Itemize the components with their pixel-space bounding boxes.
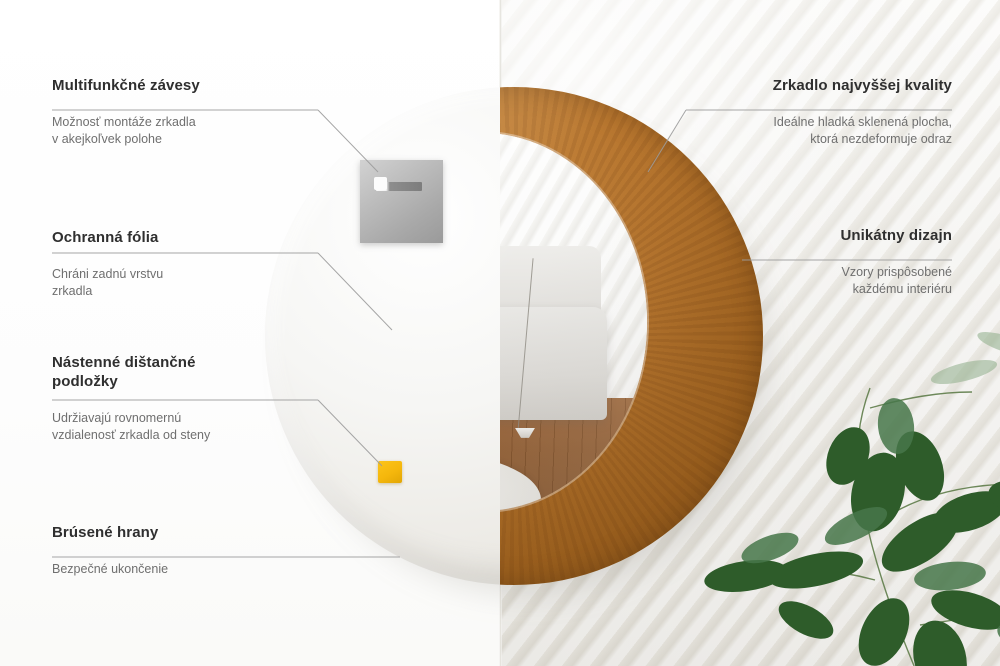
callout-title: Nástenné dištančné podložky (52, 353, 318, 391)
callout-nastenne-distancne-podlozky: Nástenné dištančné podložky Udržiavajú r… (52, 353, 318, 444)
callout-body: Ideálne hladká sklenená plocha, ktorá ne… (686, 114, 952, 148)
callout-title: Brúsené hrany (52, 523, 400, 542)
mirror-hanger-plate (360, 160, 443, 243)
callout-title: Unikátny dizajn (816, 226, 952, 245)
wall-spacer-pad (378, 461, 402, 483)
callout-body: Chráni zadnú vrstvu zrkadla (52, 266, 318, 300)
hanger-keyhole-slot (376, 182, 422, 191)
callout-title: Ochranná fólia (52, 228, 318, 247)
callout-body: Udržiavajú rovnomernú vzdialenosť zrkadl… (52, 410, 318, 444)
callout-title: Multifunkčné závesy (52, 76, 318, 95)
callout-unikatny-dizajn: Unikátny dizajn Vzory prispôsobené každé… (816, 226, 952, 298)
callout-title: Zrkadlo najvyššej kvality (686, 76, 952, 95)
callout-body: Možnosť montáže zrkadla v akejkoľvek pol… (52, 114, 318, 148)
callout-body: Vzory prispôsobené každému interiéru (816, 264, 952, 298)
callout-brusene-hrany: Brúsené hrany Bezpečné ukončenie (52, 523, 400, 578)
callout-zrkadlo-najvyssej-kvality: Zrkadlo najvyššej kvality Ideálne hladká… (686, 76, 952, 148)
callout-ochranna-folia: Ochranná fólia Chráni zadnú vrstvu zrkad… (52, 228, 318, 300)
callout-body: Bezpečné ukončenie (52, 561, 400, 578)
callout-multifunkcne-zavesy: Multifunkčné závesy Možnosť montáže zrka… (52, 76, 318, 148)
product-mirror (265, 87, 763, 585)
infographic-canvas: Multifunkčné závesy Možnosť montáže zrka… (0, 0, 1000, 666)
